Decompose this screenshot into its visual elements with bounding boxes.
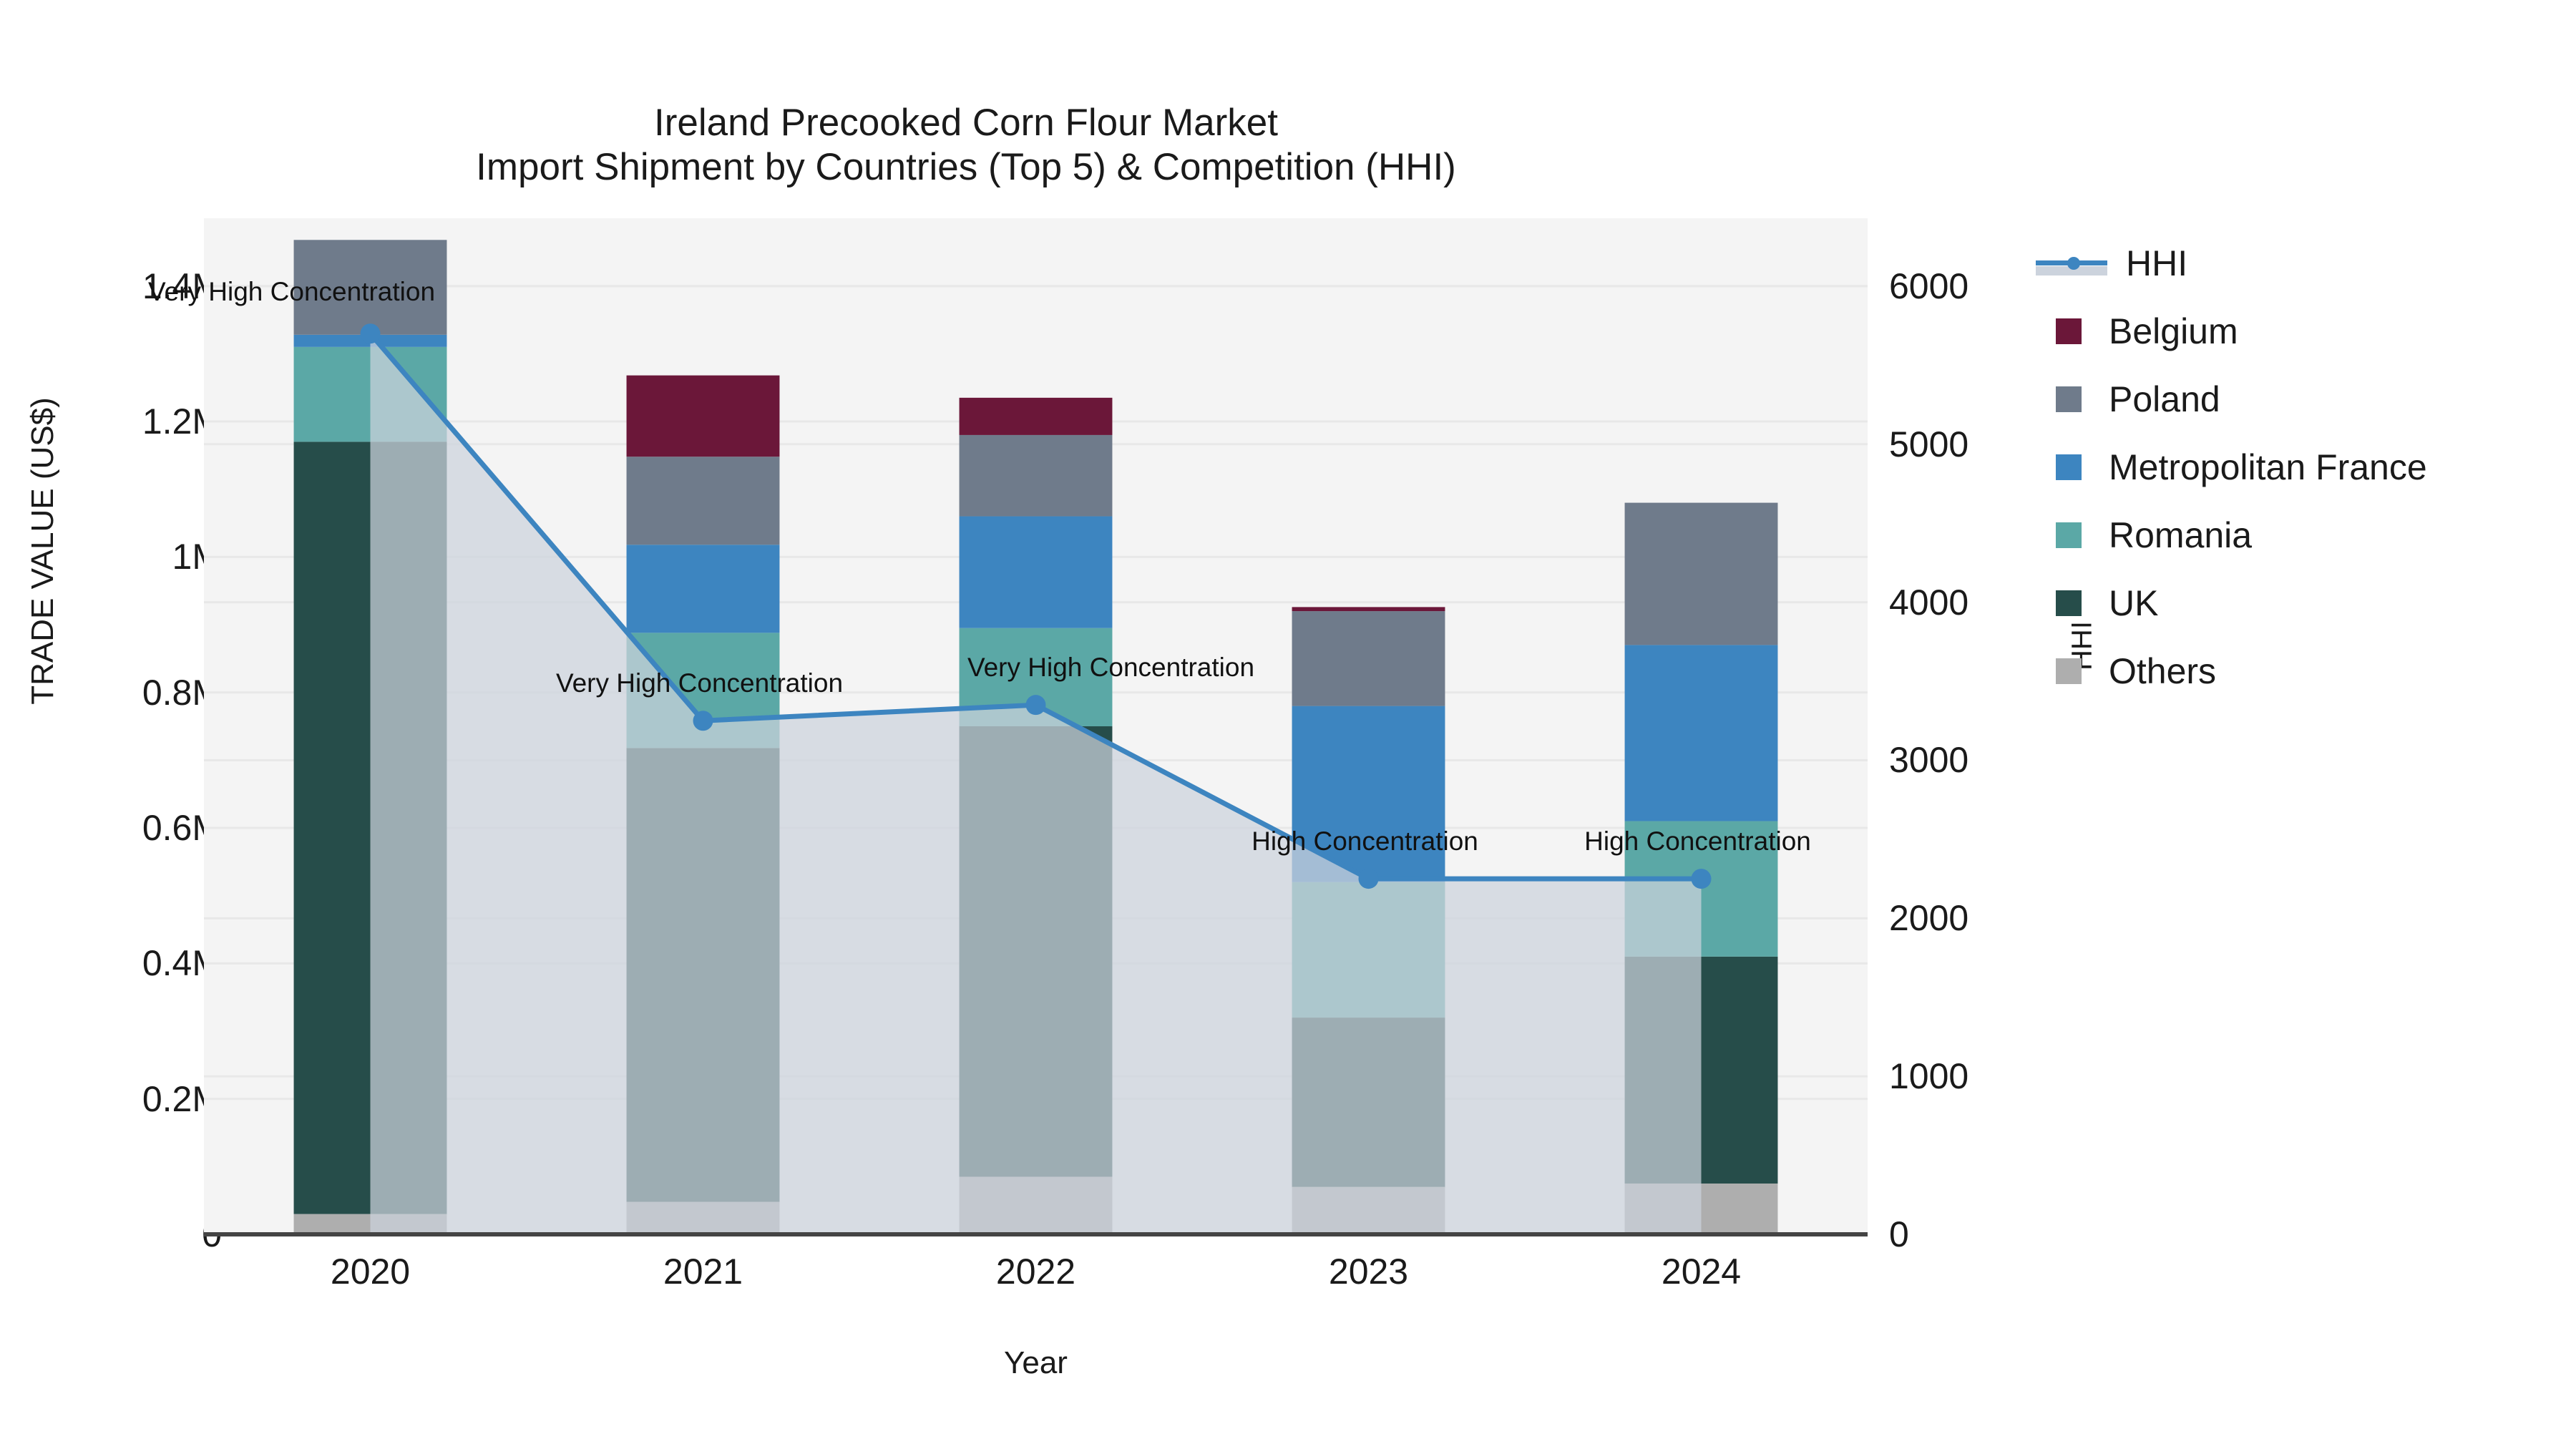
y-axis-right-tick: 3000 [1889,739,1968,781]
bar-segment [627,457,780,545]
legend-color-swatch [2056,522,2082,548]
x-axis-tick: 2020 [331,1251,410,1292]
bar-segment [627,545,780,633]
legend-item[interactable]: UK [2036,569,2427,637]
legend-color-swatch [2056,386,2082,412]
hhi-marker[interactable] [693,711,713,731]
chart-title-line-2: Import Shipment by Countries (Top 5) & C… [0,145,1932,190]
legend-item-label: Belgium [2109,311,2238,352]
bar-segment [1625,645,1778,821]
legend-color-swatch [2056,590,2082,616]
chart-legend: HHIBelgiumPolandMetropolitan FranceRoman… [2036,229,2427,705]
legend-item-label: Romania [2109,514,2252,556]
legend-color-swatch [2056,658,2082,684]
chart-title-line-1: Ireland Precooked Corn Flour Market [654,102,1278,144]
legend-item[interactable]: Metropolitan France [2036,433,2427,501]
bar-segment [960,398,1113,435]
x-axis-tick: 2024 [1662,1251,1741,1292]
x-axis-spine [204,1232,1868,1236]
legend-color-swatch [2056,318,2082,344]
bar-segment [960,517,1113,628]
legend-item-label: Poland [2109,379,2220,420]
legend-item[interactable]: Romania [2036,501,2427,569]
chart-plot-area [204,218,1868,1234]
legend-item-label: Others [2109,650,2216,692]
legend-item[interactable]: HHI [2036,229,2427,297]
bar-segment [294,240,447,335]
hhi-line-icon [2036,250,2107,276]
hhi-marker[interactable] [1359,869,1379,889]
legend-item-label: UK [2109,582,2158,624]
y-axis-right-tick: 6000 [1889,265,1968,307]
legend-item[interactable]: Belgium [2036,297,2427,365]
bar-segment [1625,503,1778,645]
chart-canvas [204,218,1868,1234]
hhi-marker-icon [2067,257,2080,270]
legend-color-swatch [2056,454,2082,480]
y-axis-right-tick: 0 [1889,1214,1909,1255]
y-axis-right-tick: 4000 [1889,582,1968,623]
bar-segment [1292,611,1445,706]
legend-item-label: HHI [2126,243,2187,284]
x-axis-label: Year [204,1345,1868,1381]
bar-segment [1292,607,1445,611]
x-axis-tick: 2021 [663,1251,743,1292]
y-axis-right-tick: 2000 [1889,897,1968,939]
y-axis-right-tick: 5000 [1889,424,1968,465]
page-title: Ireland Precooked Corn Flour Market Impo… [0,56,1932,235]
hhi-marker[interactable] [361,323,381,343]
hhi-marker[interactable] [1692,869,1712,889]
x-axis-tick: 2022 [996,1251,1075,1292]
legend-item-label: Metropolitan France [2109,447,2427,488]
x-axis-tick: 2023 [1329,1251,1408,1292]
bar-segment [960,435,1113,517]
legend-item[interactable]: Poland [2036,365,2427,433]
y-axis-left-label: TRADE VALUE (US$) [25,329,61,773]
bar-segment [627,376,780,457]
legend-item[interactable]: Others [2036,637,2427,705]
y-axis-right-tick: 1000 [1889,1055,1968,1097]
hhi-marker[interactable] [1026,695,1046,715]
